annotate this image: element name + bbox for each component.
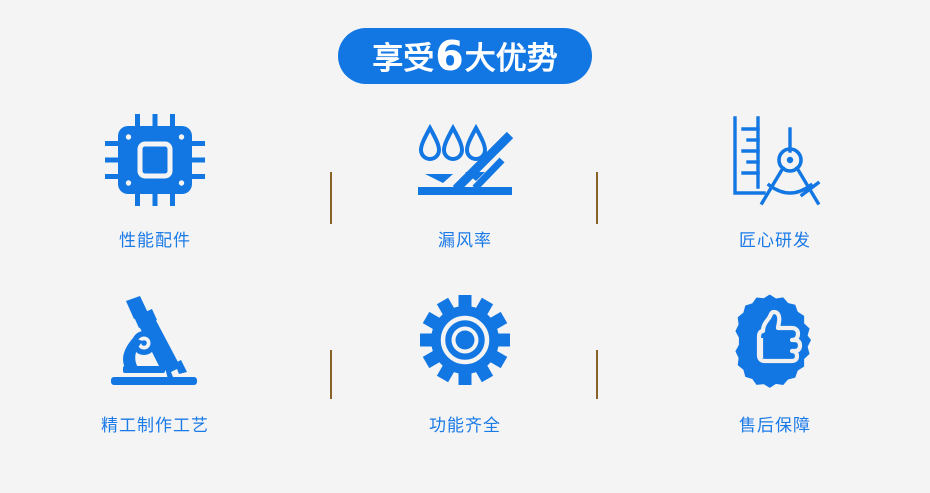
- header-title-area: 享受 6 大优势: [0, 0, 930, 112]
- title-text-before: 享受: [372, 44, 434, 75]
- feature-cell-air-leakage[interactable]: 漏风率: [310, 112, 620, 292]
- feature-cell-full-function[interactable]: 功能齐全: [310, 292, 620, 464]
- microscope-icon: [100, 292, 210, 388]
- feature-label: 匠心研发: [739, 226, 811, 251]
- water-drops-repellent-icon: [410, 112, 520, 208]
- divider-row1-left: [330, 172, 332, 224]
- feature-cell-performance-parts[interactable]: 性能配件: [0, 112, 310, 292]
- thumbs-up-badge-icon: [720, 292, 830, 388]
- feature-cell-craftsmanship-rnd[interactable]: 匠心研发: [620, 112, 930, 292]
- feature-cell-precision-manufacturing[interactable]: 精工制作工艺: [0, 292, 310, 464]
- feature-label: 性能配件: [119, 226, 191, 251]
- feature-label: 精工制作工艺: [101, 411, 209, 436]
- features-row-1: 性能配件: [0, 112, 930, 292]
- title-text-after: 大优势: [465, 44, 558, 75]
- title-number: 6: [435, 36, 464, 77]
- ruler-compass-icon: [720, 112, 830, 208]
- divider-row2-right: [596, 350, 598, 399]
- features-row-2: 精工制作工艺: [0, 292, 930, 464]
- features-grid: 性能配件: [0, 112, 930, 464]
- divider-row1-right: [596, 172, 598, 224]
- cpu-chip-icon: [100, 112, 210, 208]
- feature-cell-after-sales[interactable]: 售后保障: [620, 292, 930, 464]
- divider-row2-left: [330, 350, 332, 399]
- feature-label: 漏风率: [438, 226, 492, 251]
- feature-label: 功能齐全: [429, 411, 501, 436]
- gear-icon: [410, 292, 520, 388]
- feature-label: 售后保障: [739, 411, 811, 436]
- title-badge: 享受 6 大优势: [338, 28, 592, 84]
